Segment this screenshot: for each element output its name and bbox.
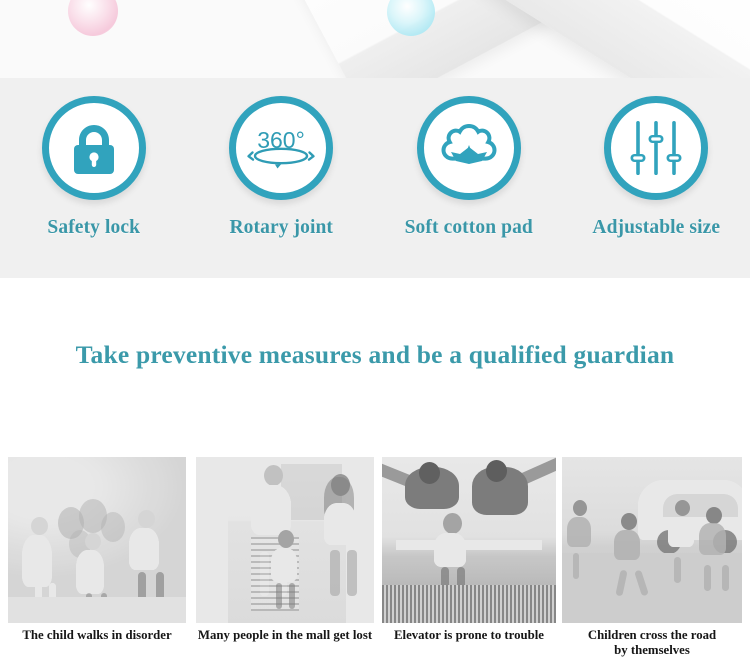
- feature-label: Soft cotton pad: [405, 217, 533, 239]
- padlock-icon: [68, 120, 120, 176]
- photo-cell-3[interactable]: Elevator is prone to trouble: [382, 457, 556, 643]
- photo-caption: The child walks in disorder: [8, 628, 186, 643]
- photo-caption: Elevator is prone to trouble: [382, 628, 556, 643]
- photo-caption: Children cross the road by themselves: [562, 628, 742, 657]
- photo-escalator: [382, 457, 556, 623]
- feature-label: Adjustable size: [592, 217, 720, 239]
- feature-icon-circle: [417, 96, 521, 200]
- photo-family-in-mall: [196, 457, 374, 623]
- rotation-360-icon: 360°: [245, 122, 317, 174]
- photo-children-walking: [8, 457, 186, 623]
- product-detail-page: Safety lock 360° Rotary joint: [0, 0, 750, 666]
- feature-rotary-joint[interactable]: 360° Rotary joint: [197, 96, 365, 239]
- photo-cell-1[interactable]: The child walks in disorder: [8, 457, 186, 643]
- feature-label: Safety lock: [47, 217, 140, 239]
- pink-bubble-icon: [68, 0, 118, 36]
- sliders-icon: [628, 119, 684, 177]
- feature-safety-lock[interactable]: Safety lock: [10, 96, 178, 239]
- feature-soft-cotton-pad[interactable]: Soft cotton pad: [385, 96, 553, 239]
- photo-caption: Many people in the mall get lost: [196, 628, 374, 643]
- feature-band: Safety lock 360° Rotary joint: [0, 78, 750, 278]
- feature-icon-circle: [604, 96, 708, 200]
- feature-icon-circle: [42, 96, 146, 200]
- feature-adjustable-size[interactable]: Adjustable size: [572, 96, 740, 239]
- feature-label: Rotary joint: [229, 217, 333, 239]
- photo-cell-4[interactable]: Children cross the road by themselves: [562, 457, 742, 657]
- scenario-photo-row: The child walks in disorder: [0, 457, 750, 666]
- cotton-boll-icon: [438, 122, 500, 174]
- photo-children-crossing-road: [562, 457, 742, 623]
- feature-icon-circle: 360°: [229, 96, 333, 200]
- hero-strip: [0, 0, 750, 78]
- photo-cell-2[interactable]: Many people in the mall get lost: [196, 457, 374, 643]
- section-headline: Take preventive measures and be a qualif…: [0, 340, 750, 370]
